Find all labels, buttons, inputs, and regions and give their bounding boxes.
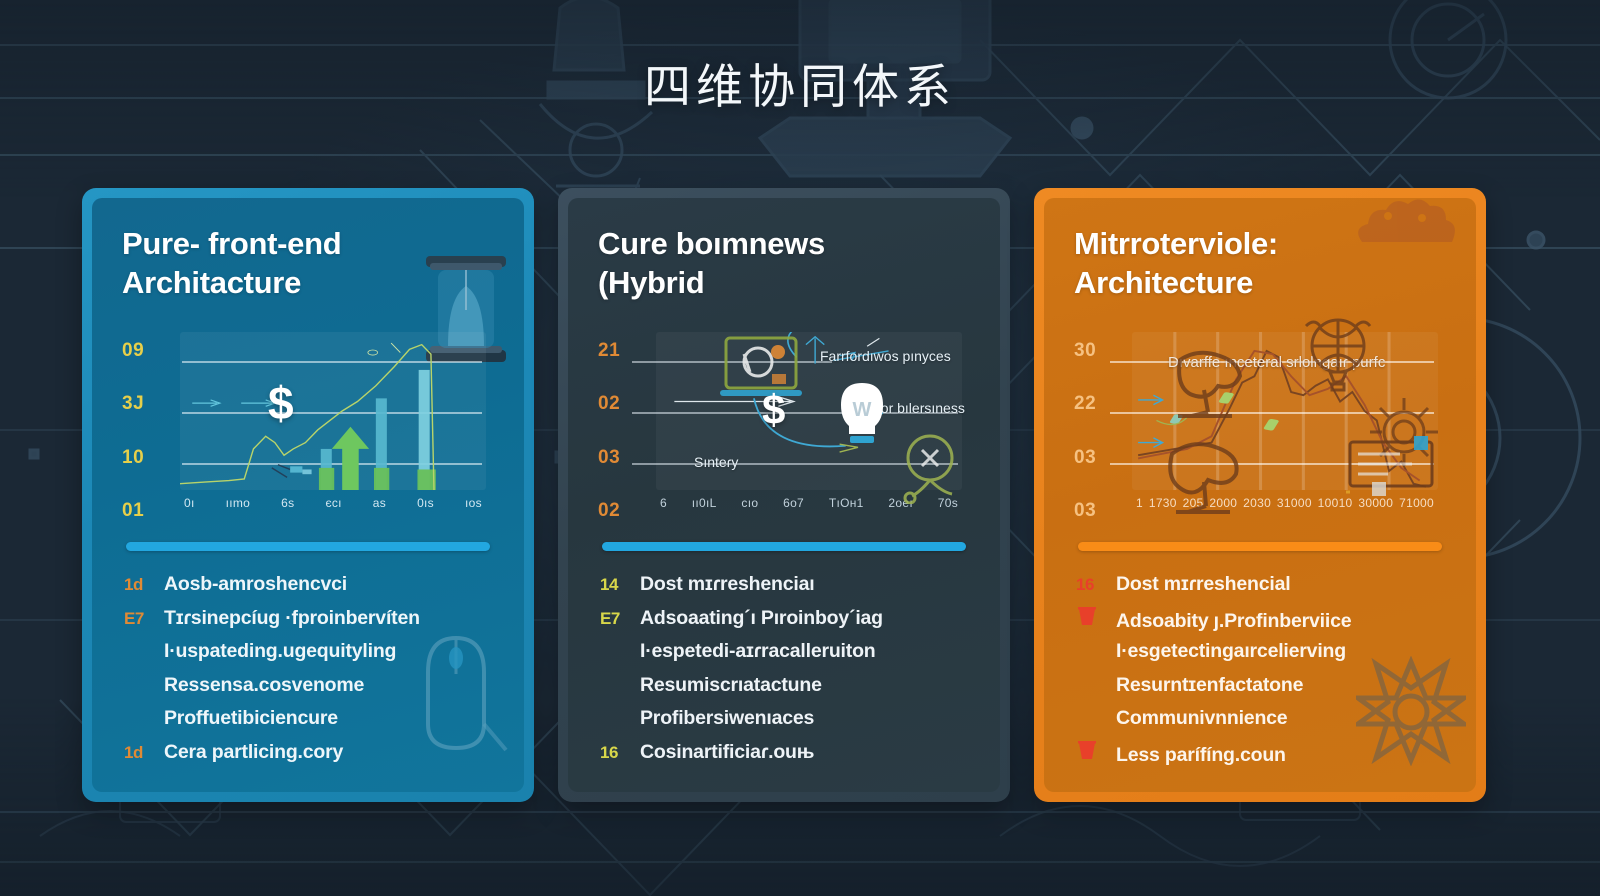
list-item-label: Proffuetibiciencure bbox=[164, 707, 338, 730]
bullet-marker-icon: 14 bbox=[600, 576, 628, 593]
x-tick: ıı0ıL bbox=[692, 496, 717, 524]
bullet-marker-icon: 16 bbox=[600, 744, 628, 761]
chart-annotation: Farrfordıwos pınyces bbox=[820, 348, 951, 364]
x-tick: 2030 bbox=[1243, 496, 1271, 524]
bullet-marker-icon bbox=[1076, 741, 1104, 764]
list-item-label: Ressensa.cosvenome bbox=[164, 674, 364, 697]
plot-area: W bbox=[656, 324, 968, 524]
x-tick: 1730 bbox=[1149, 496, 1177, 524]
y-tick: 02 bbox=[598, 500, 650, 522]
list-item[interactable]: Ressensa.cosvenome bbox=[124, 674, 494, 708]
y-tick: 21 bbox=[598, 340, 650, 362]
list-item[interactable]: 1d Cera partlicing.cory bbox=[124, 741, 494, 775]
list-item-label: I·uspateding.ugequityling bbox=[164, 640, 396, 663]
y-tick: 03 bbox=[598, 447, 650, 469]
card-title: Cure boımnews (Hybrid bbox=[598, 224, 970, 302]
x-tick: 2oeı bbox=[888, 496, 913, 524]
list-item[interactable]: Resurntɪenfaсtatone bbox=[1076, 674, 1446, 708]
page-title: 四维协同体系 bbox=[0, 48, 1600, 117]
x-tick: 71000 bbox=[1399, 496, 1434, 524]
list-item[interactable]: 16 Dost mɪɾreshencial bbox=[1076, 573, 1446, 607]
card-title: Mitrroterviole: Architecture bbox=[1074, 224, 1446, 302]
y-tick: 10 bbox=[122, 447, 174, 469]
x-tick: 0ı bbox=[184, 496, 195, 524]
y-tick: 3J bbox=[122, 393, 174, 415]
dollar-sign-icon: $ bbox=[268, 376, 294, 430]
y-tick: 09 bbox=[122, 340, 174, 362]
x-tick: 6s bbox=[281, 496, 294, 524]
x-tick: ıos bbox=[465, 496, 482, 524]
x-tick: cıo bbox=[741, 496, 758, 524]
x-tick: 70ѕ bbox=[938, 496, 958, 524]
list-item-label: Cera partlicing.cory bbox=[164, 741, 343, 764]
list-item-label: Aosb-amroshencvci bbox=[164, 573, 347, 596]
y-tick: 03 bbox=[1074, 447, 1126, 469]
x-tick: ıımo bbox=[226, 496, 251, 524]
list-item[interactable]: 1d Aosb-amroshencvci bbox=[124, 573, 494, 607]
list-item[interactable]: Less parífíng.coun bbox=[1076, 741, 1446, 775]
flask-icon bbox=[1076, 741, 1098, 761]
chart-card3: 30 22 03 03 bbox=[1074, 324, 1446, 524]
cards-row: Pure- front-end Architacture 09 3J 10 01 bbox=[82, 188, 1486, 802]
bullet-marker-icon: 1d bbox=[124, 744, 152, 761]
x-tick: 6 bbox=[660, 496, 667, 524]
plot-area: $ 0ı ıımo 6s єcı as 0ıs ıos bbox=[180, 324, 492, 524]
list-item-label: Profibersiwenıaces bbox=[640, 707, 814, 730]
plot-series-card1 bbox=[180, 332, 486, 490]
list-item[interactable]: Profibersiwenıaces bbox=[600, 707, 970, 741]
list-item-label: Dost mɪɾreshenciaı bbox=[640, 573, 814, 596]
list-item-label: Resumiscrıataсtune bbox=[640, 674, 822, 697]
x-tick: 0ıs bbox=[417, 496, 434, 524]
list-item[interactable]: 16 Cosinartificiaɾ.ouњ bbox=[600, 741, 970, 775]
chart-annotation: Dıvarffe ınceteral srlolnɡaıɾ purfc bbox=[1168, 354, 1385, 371]
x-axis: 0ı ıımo 6s єcı as 0ıs ıos bbox=[180, 496, 486, 524]
bullet-marker-icon: 1d bbox=[124, 576, 152, 593]
list-item[interactable]: 14 Dost mɪɾreshenciaı bbox=[600, 573, 970, 607]
card-divider bbox=[602, 542, 966, 551]
bullet-marker-icon: 16 bbox=[1076, 576, 1104, 593]
bullet-marker-icon: E7 bbox=[600, 610, 628, 627]
y-axis: 21 02 03 02 bbox=[598, 324, 650, 524]
y-tick: 30 bbox=[1074, 340, 1126, 362]
card-divider bbox=[126, 542, 490, 551]
y-axis: 09 3J 10 01 bbox=[122, 324, 174, 524]
x-tick: TıOн1 bbox=[829, 496, 864, 524]
x-axis: 1 1730 205 2000 2030 31000 10010 30000 7… bbox=[1132, 496, 1438, 524]
list-item-label: Adsoaating´ı Pıroinboy´iag bbox=[640, 607, 883, 630]
card-mitrroterviole-architecture[interactable]: Mitrroterviole: Architecture 30 22 03 03 bbox=[1034, 188, 1486, 802]
list-item-label: Adsoabity ȷ.Profinberviice bbox=[1116, 610, 1351, 633]
list-item[interactable]: Communivnnience bbox=[1076, 707, 1446, 741]
dollar-sign-icon: $ bbox=[762, 386, 785, 434]
list-item-label: I·espetedi-aɪɾracalleruiton bbox=[640, 640, 876, 663]
card-inner: Mitrroterviole: Architecture 30 22 03 03 bbox=[1044, 198, 1476, 792]
bullet-marker-icon bbox=[1076, 607, 1104, 630]
chart-annotation: Sınteɾy bbox=[694, 454, 738, 470]
y-tick: 03 bbox=[1074, 500, 1126, 522]
list-item[interactable]: Resumiscrıataсtune bbox=[600, 674, 970, 708]
card-divider bbox=[1078, 542, 1442, 551]
list-item[interactable]: E7 Adsoaating´ı Pıroinboy´iag bbox=[600, 607, 970, 641]
chart-card2: 21 02 03 02 bbox=[598, 324, 970, 524]
card-cure-boimnews-hybrid[interactable]: Cure boımnews (Hybrid 21 02 03 02 bbox=[558, 188, 1010, 802]
y-axis: 30 22 03 03 bbox=[1074, 324, 1126, 524]
x-tick: 6o7 bbox=[783, 496, 804, 524]
list-item-label: Tɪɾsinepcíug ·fproinbervíten bbox=[164, 607, 420, 630]
list-item[interactable]: Adsoabity ȷ.Profinberviice bbox=[1076, 607, 1446, 641]
plot-area: Dıvarffe ınceteral srlolnɡaıɾ purfc 1 17… bbox=[1132, 324, 1444, 524]
x-tick: as bbox=[373, 496, 386, 524]
flask-icon bbox=[1076, 607, 1098, 627]
chart-annotation: ısell or bılersıness bbox=[852, 400, 965, 416]
list-item-label: Dost mɪɾreshencial bbox=[1116, 573, 1290, 596]
bullet-marker-icon: E7 bbox=[124, 610, 152, 627]
y-tick: 01 bbox=[122, 500, 174, 522]
list-item-label: Communivnnience bbox=[1116, 707, 1287, 730]
card-pure-front-end[interactable]: Pure- front-end Architacture 09 3J 10 01 bbox=[82, 188, 534, 802]
x-tick: 30000 bbox=[1358, 496, 1393, 524]
list-item[interactable]: E7 Tɪɾsinepcíug ·fproinbervíten bbox=[124, 607, 494, 641]
chart-card1: 09 3J 10 01 bbox=[122, 324, 494, 524]
list-item[interactable]: Proffuetibiciencure bbox=[124, 707, 494, 741]
card-inner: Pure- front-end Architacture 09 3J 10 01 bbox=[92, 198, 524, 792]
x-tick: 1 bbox=[1136, 496, 1143, 524]
list-item-label: Cosinartificiaɾ.ouњ bbox=[640, 741, 814, 764]
list-item[interactable]: I·uspateding.ugequityling bbox=[124, 640, 494, 674]
list-item-label: Less parífíng.coun bbox=[1116, 744, 1286, 767]
list-item[interactable]: I·esgetectingaırcelierving bbox=[1076, 640, 1446, 674]
x-axis: 6 ıı0ıL cıo 6o7 TıOн1 2oeı 70ѕ bbox=[656, 496, 962, 524]
list-item[interactable]: I·espetedi-aɪɾracalleruiton bbox=[600, 640, 970, 674]
list-item-label: Resurntɪenfaсtatone bbox=[1116, 674, 1303, 697]
bullet-list: 16 Dost mɪɾreshencial Adsoabity ȷ.Profin… bbox=[1074, 573, 1446, 774]
x-tick: 31000 bbox=[1277, 496, 1312, 524]
bullet-list: 1d Aosb-amroshencvci E7 Tɪɾsinepcíug ·fp… bbox=[122, 573, 494, 774]
x-tick: 2000 bbox=[1209, 496, 1237, 524]
card-title: Pure- front-end Architacture bbox=[122, 224, 494, 302]
list-item-label: I·esgetectingaırcelierving bbox=[1116, 640, 1346, 663]
x-tick: 205 bbox=[1183, 496, 1204, 524]
bullet-list: 14 Dost mɪɾreshenciaı E7 Adsoaating´ı Pı… bbox=[598, 573, 970, 774]
x-tick: 10010 bbox=[1318, 496, 1353, 524]
card-inner: Cure boımnews (Hybrid 21 02 03 02 bbox=[568, 198, 1000, 792]
x-tick: єcı bbox=[325, 496, 341, 524]
